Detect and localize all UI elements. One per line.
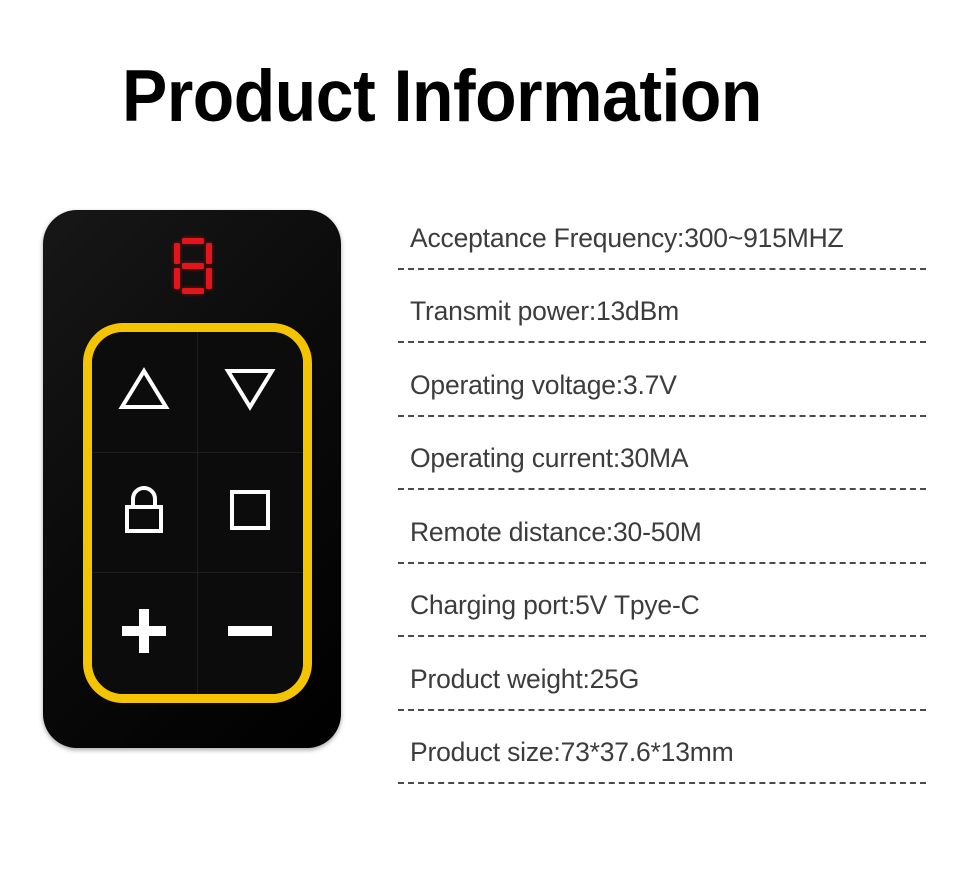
triangle-up-icon <box>118 366 170 417</box>
specification-list: Acceptance Frequency:300~915MHZ Transmit… <box>398 196 926 784</box>
keypad <box>92 332 303 694</box>
led-segment-e <box>174 268 180 289</box>
lock-button[interactable] <box>92 453 198 574</box>
minus-icon <box>226 607 274 660</box>
spec-row: Operating current:30MA <box>398 417 926 491</box>
spec-text: Product weight:25G <box>410 664 639 695</box>
up-button[interactable] <box>92 332 198 453</box>
remote-control-device <box>43 210 341 748</box>
spec-row: Product weight:25G <box>398 637 926 711</box>
spec-text: Operating voltage:3.7V <box>410 370 677 401</box>
spec-row: Acceptance Frequency:300~915MHZ <box>398 196 926 270</box>
led-segment-d <box>182 288 204 294</box>
spec-text: Operating current:30MA <box>410 443 688 474</box>
led-segment-b <box>206 243 212 264</box>
down-button[interactable] <box>198 332 304 453</box>
led-segment-g <box>182 263 204 269</box>
spec-row: Product size:73*37.6*13mm <box>398 711 926 785</box>
triangle-down-icon <box>224 366 276 417</box>
plus-icon <box>120 607 168 660</box>
spec-text: Transmit power:13dBm <box>410 296 679 327</box>
led-segment-c <box>206 268 212 289</box>
spec-row: Transmit power:13dBm <box>398 270 926 344</box>
spec-row: Operating voltage:3.7V <box>398 343 926 417</box>
spec-text: Charging port:5V Tpye-C <box>410 590 700 621</box>
lock-icon <box>120 484 168 541</box>
led-segment-a <box>182 238 204 244</box>
spec-text: Acceptance Frequency:300~915MHZ <box>410 223 844 254</box>
spec-text: Product size:73*37.6*13mm <box>410 737 733 768</box>
spec-row: Remote distance:30-50M <box>398 490 926 564</box>
spec-divider <box>398 782 926 784</box>
plus-button[interactable] <box>92 573 198 694</box>
keypad-frame <box>83 323 312 703</box>
spec-row: Charging port:5V Tpye-C <box>398 564 926 638</box>
minus-button[interactable] <box>198 573 304 694</box>
page-title: Product Information <box>122 52 829 142</box>
stop-button[interactable] <box>198 453 304 574</box>
spec-text: Remote distance:30-50M <box>410 517 702 548</box>
square-stop-icon <box>228 488 272 537</box>
led-display <box>173 238 213 294</box>
led-segment-f <box>174 243 180 264</box>
